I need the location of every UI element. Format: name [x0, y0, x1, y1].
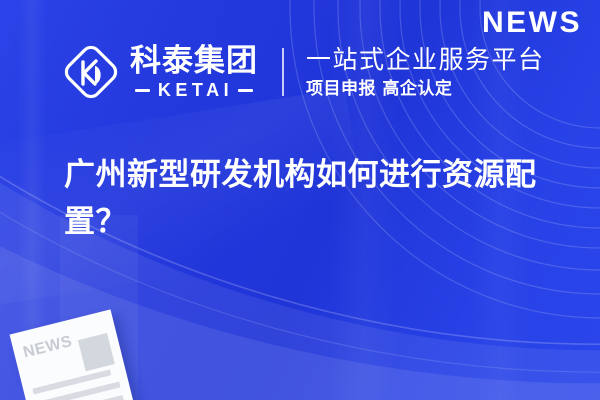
header-divider: [282, 48, 284, 96]
logo-company-name-cn: 科泰集团: [130, 44, 258, 78]
news-wordmark: NEWS: [482, 6, 582, 40]
tagline-group: 一站式企业服务平台 项目申报 高企认定: [306, 45, 545, 100]
logo-dash-right: [238, 89, 253, 92]
tagline-primary: 一站式企业服务平台: [306, 45, 545, 75]
newspaper-thumbnail-block: [78, 333, 115, 371]
tagline-secondary: 项目申报 高企认定: [306, 78, 545, 100]
logo-dash-left: [135, 89, 150, 92]
ketai-logo[interactable]: 科泰集团 KETAI: [60, 41, 258, 103]
ketai-diamond-monogram-icon: [60, 41, 122, 103]
logo-english-row: KETAI: [135, 80, 253, 100]
ketai-logo-wordmark: 科泰集团 KETAI: [130, 44, 258, 100]
article-headline: 广州新型研发机构如何进行资源配置？: [64, 152, 564, 246]
logo-company-name-en: KETAI: [158, 80, 233, 100]
newspaper-sheet: NEWS: [10, 309, 139, 400]
banner-header: 科泰集团 KETAI 一站式企业服务平台 项目申报 高企认定: [60, 36, 545, 108]
newspaper-masthead: NEWS: [21, 333, 74, 362]
news-banner: NEWS 科泰集团 KETAI: [0, 0, 600, 400]
newspaper-illustration: NEWS: [10, 309, 139, 400]
